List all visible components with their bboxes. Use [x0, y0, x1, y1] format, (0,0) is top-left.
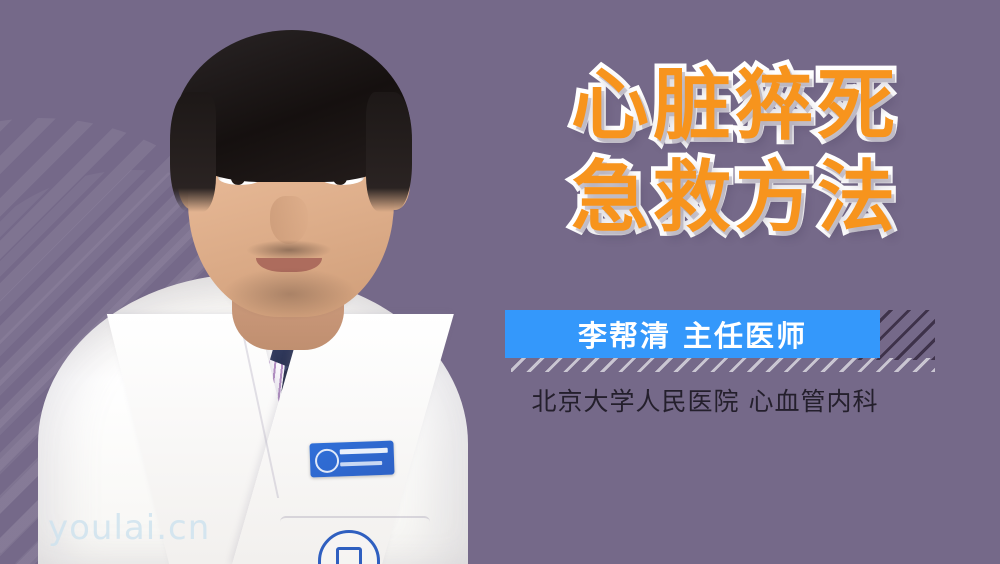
hospital-seal-icon — [315, 448, 340, 473]
moustache — [246, 240, 332, 260]
presenter-badge: 李帮清 主任医师 — [505, 310, 880, 358]
site-watermark: youlai.cn — [48, 508, 210, 548]
text-column: 心脏猝死 急救方法 李帮清 主任医师 北京大学人民医院 心血管内科 — [470, 0, 1000, 564]
nose — [270, 196, 308, 244]
hair-sideburn-right — [366, 92, 412, 212]
presenter-block: 李帮清 主任医师 — [505, 310, 925, 376]
doctor-portrait — [18, 0, 488, 564]
headline-line-1: 心脏猝死 — [470, 60, 1000, 152]
chin-shadow — [224, 268, 356, 320]
diagonal-hatch-bottom — [511, 358, 935, 372]
badge-name-text — [340, 461, 382, 466]
headline-line-2: 急救方法 — [470, 152, 1000, 244]
headline: 心脏猝死 急救方法 — [470, 60, 1000, 244]
affiliation-label: 北京大学人民医院 心血管内科 — [470, 382, 940, 418]
video-thumbnail-card: 心脏猝死 急救方法 李帮清 主任医师 北京大学人民医院 心血管内科 youlai… — [0, 0, 1000, 564]
coat-name-badge — [309, 441, 394, 478]
presenter-name-label: 李帮清 主任医师 — [578, 313, 807, 355]
hair-sideburn-left — [170, 92, 216, 212]
badge-hospital-text — [340, 448, 388, 455]
